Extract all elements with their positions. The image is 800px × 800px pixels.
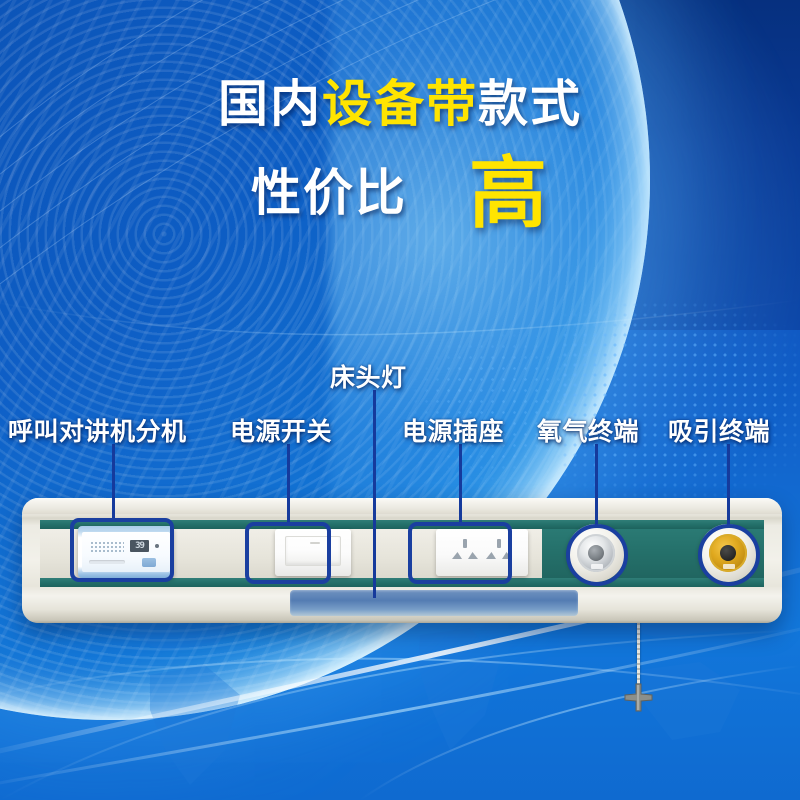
bed-lamp-diffuser <box>290 590 578 616</box>
callout-leader-bed-lamp <box>373 390 376 598</box>
highlight-circle-suction-terminal <box>698 524 760 586</box>
callout-leader-nurse-call-intercom <box>112 444 115 522</box>
banner-stage: 国内设备带款式 性价比高 呼叫对讲机分机 电源开关 床头灯 电源插座 氧气终端 … <box>0 0 800 800</box>
callout-label-nurse-call-intercom: 呼叫对讲机分机 <box>8 412 187 448</box>
callout-label-power-switch: 电源开关 <box>230 412 332 448</box>
callout-label-oxygen-terminal: 氧气终端 <box>537 412 639 448</box>
headline-line-2: 性价比高 <box>0 143 800 226</box>
headline-seg-2-highlight: 设备带 <box>322 75 478 133</box>
highlight-box-nurse-call-intercom <box>70 518 174 582</box>
callout-label-suction-terminal: 吸引终端 <box>668 412 770 448</box>
callout-label-power-socket: 电源插座 <box>402 412 504 448</box>
highlight-box-power-switch <box>245 522 331 584</box>
pull-cord-cross-handle-icon[interactable] <box>623 682 654 713</box>
headline-seg-1: 国内 <box>218 75 322 133</box>
unit-top-face <box>22 498 782 514</box>
highlight-circle-oxygen-terminal <box>566 524 628 586</box>
highlight-box-power-socket <box>408 522 512 584</box>
headline-line-2-text: 性价比 <box>251 164 407 222</box>
halftone-dots-center <box>410 330 580 480</box>
callout-leader-power-switch <box>287 444 290 526</box>
headline-seg-3: 款式 <box>478 75 582 133</box>
headline-emphasis-gao: 高 <box>469 149 549 239</box>
headline-line-1: 国内设备带款式 <box>0 78 800 131</box>
callout-leader-suction-terminal <box>727 444 730 528</box>
callout-label-bed-lamp: 床头灯 <box>330 358 407 394</box>
headline-block: 国内设备带款式 性价比高 <box>0 78 800 226</box>
callout-leader-oxygen-terminal <box>595 444 598 528</box>
callout-leader-power-socket <box>459 444 462 526</box>
